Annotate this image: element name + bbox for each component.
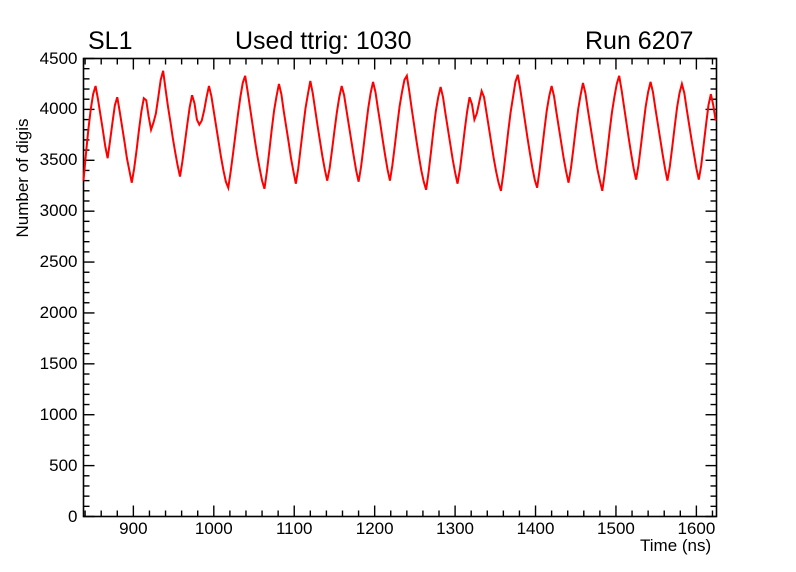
y-tick-label: 3500: [8, 150, 78, 170]
x-tick-label: 1000: [174, 519, 254, 539]
x-tick-label: 1500: [576, 519, 656, 539]
x-axis-title: Time (ns): [640, 536, 711, 556]
run-label: Run 6207: [585, 27, 693, 56]
y-tick-label: 4500: [8, 49, 78, 69]
page-title: Used ttrig: 1030: [235, 27, 412, 56]
y-tick-label: 2000: [8, 303, 78, 323]
plot-canvas: [0, 0, 796, 572]
superlayer-label: SL1: [88, 27, 132, 56]
x-tick-label: 900: [93, 519, 173, 539]
y-tick-label: 4000: [8, 99, 78, 119]
y-tick-label: 1000: [8, 405, 78, 425]
x-tick-label: 1200: [335, 519, 415, 539]
y-tick-label: 0: [8, 507, 78, 527]
y-tick-label: 3000: [8, 201, 78, 221]
y-tick-label: 2500: [8, 252, 78, 272]
x-tick-label: 1300: [415, 519, 495, 539]
y-tick-label: 500: [8, 456, 78, 476]
x-tick-label: 1600: [656, 519, 736, 539]
x-tick-label: 1100: [254, 519, 334, 539]
canvas-background: [0, 0, 796, 572]
x-tick-label: 1400: [496, 519, 576, 539]
y-tick-label: 1500: [8, 354, 78, 374]
